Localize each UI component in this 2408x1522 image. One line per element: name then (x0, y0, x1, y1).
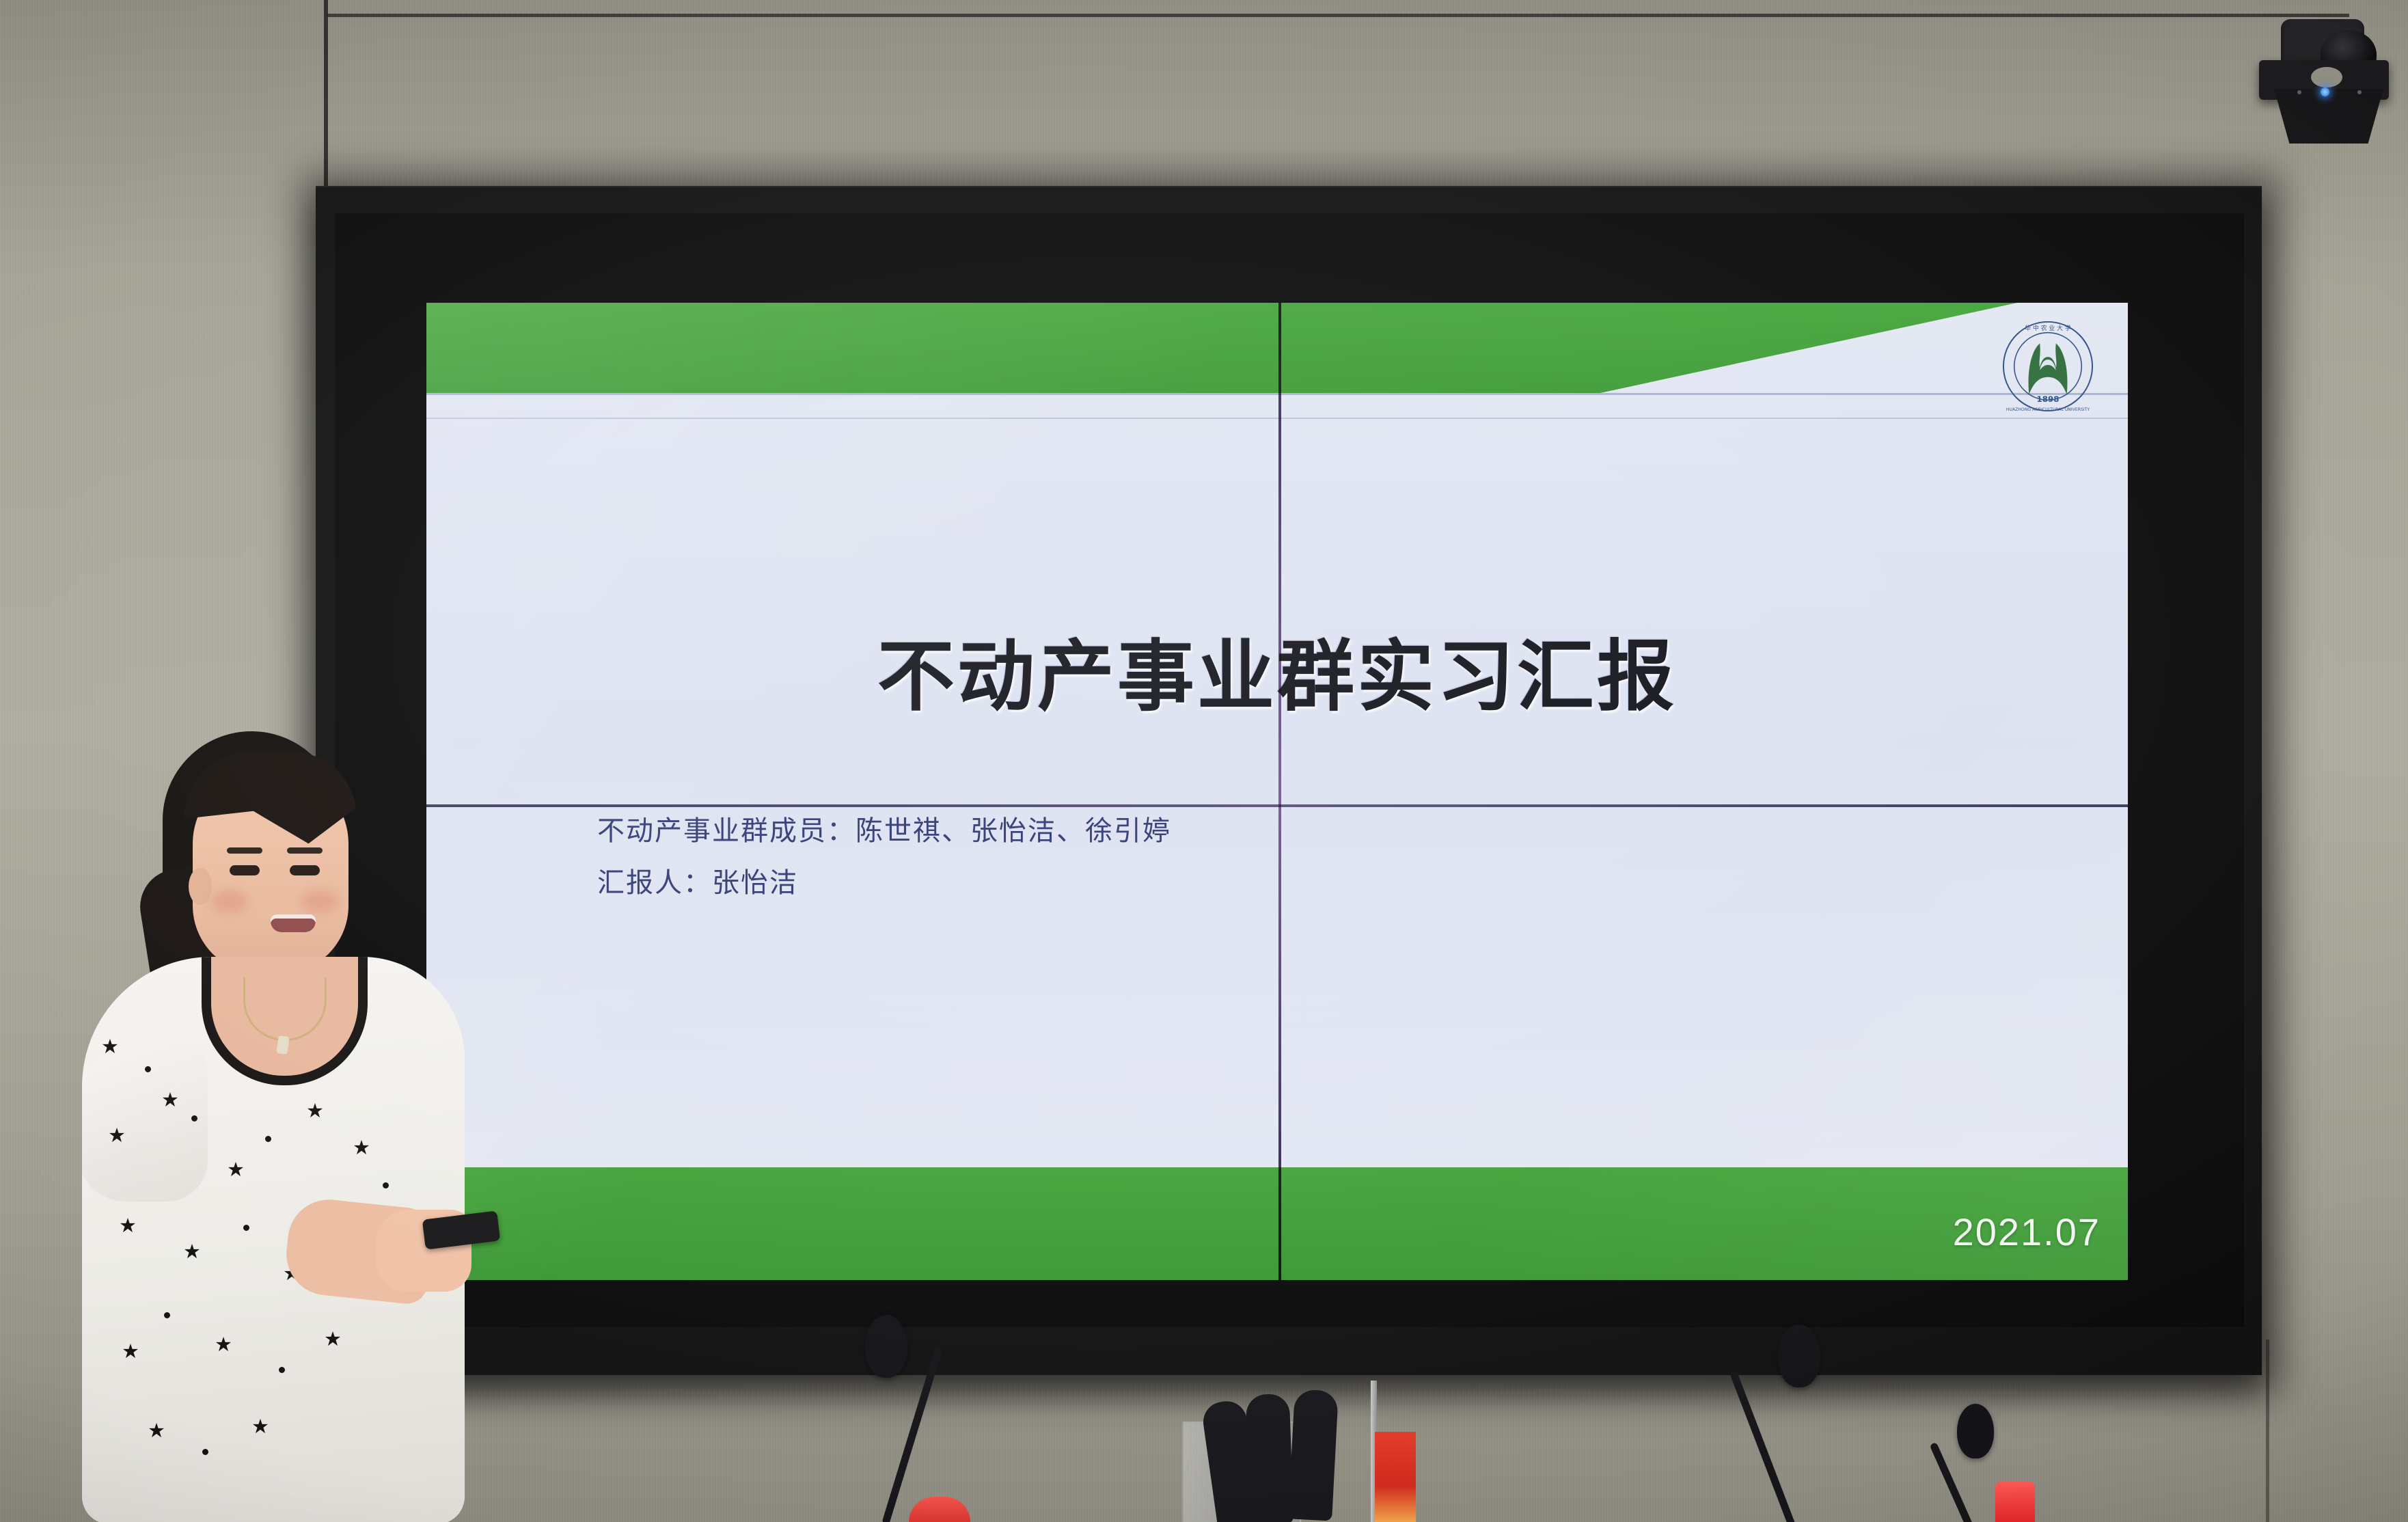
scene-vignette (0, 0, 2408, 1522)
conference-room-scene: 1898 华 中 农 业 大 学 HUAZHONG AGRICULTURAL U… (0, 0, 2408, 1522)
